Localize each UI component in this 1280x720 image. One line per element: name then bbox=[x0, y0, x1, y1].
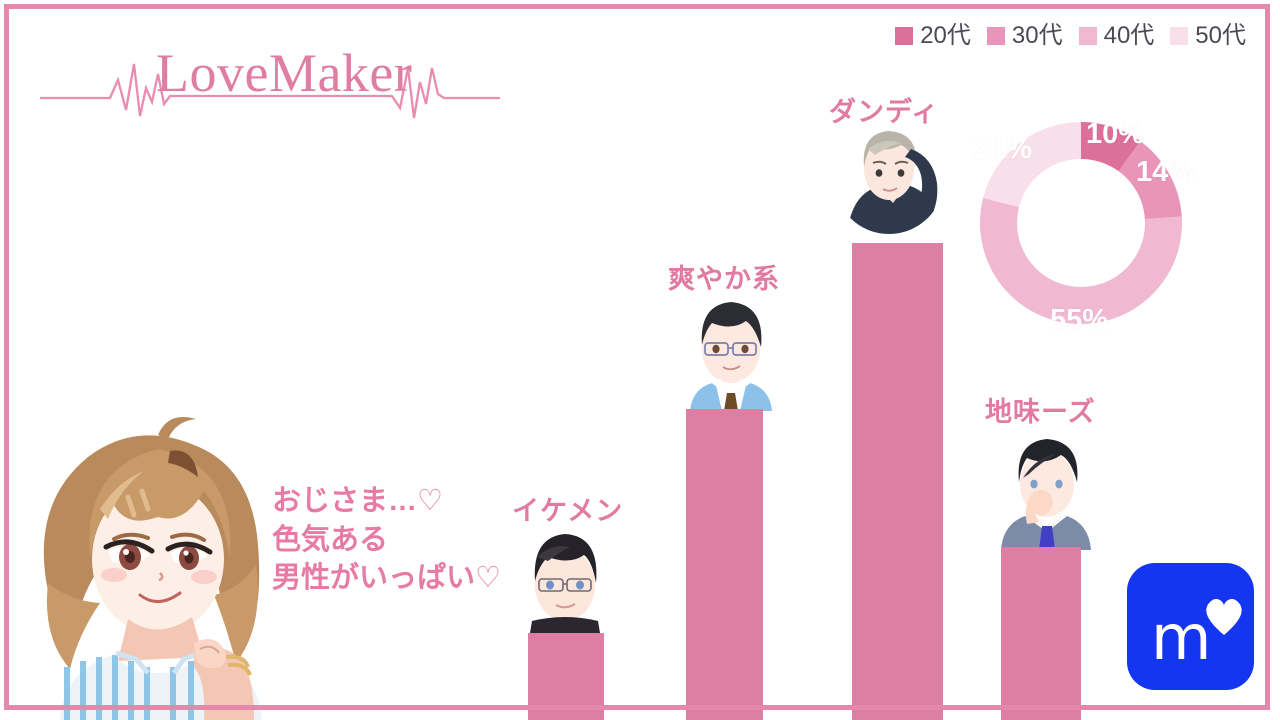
bar-dandy bbox=[852, 243, 943, 720]
legend-item: 20代 bbox=[895, 24, 971, 48]
heart-icon bbox=[1201, 595, 1247, 637]
bar-ikemen bbox=[528, 633, 604, 720]
heroine-illustration bbox=[8, 405, 308, 720]
legend-swatch-30 bbox=[987, 27, 1005, 45]
avatar-jimis bbox=[993, 432, 1095, 550]
legend-swatch-40 bbox=[1079, 27, 1097, 45]
avatar-ikemen bbox=[518, 521, 612, 633]
donut-value-40: 55% bbox=[1050, 304, 1108, 337]
avatar-sawayaka bbox=[682, 293, 780, 411]
legend-item: 40代 bbox=[1079, 24, 1155, 48]
bar-sawayaka bbox=[686, 409, 763, 720]
legend-item: 30代 bbox=[987, 24, 1063, 48]
age-legend: 20代 30代 40代 50代 bbox=[895, 24, 1246, 48]
legend-label-30: 30代 bbox=[1012, 24, 1063, 48]
legend-swatch-50 bbox=[1170, 27, 1188, 45]
legend-label-20: 20代 bbox=[920, 24, 971, 48]
legend-swatch-20 bbox=[895, 27, 913, 45]
app-icon[interactable]: m bbox=[1127, 563, 1254, 690]
infographic-canvas: LoveMaker 20代 30代 40代 50代 bbox=[0, 0, 1280, 720]
avatar-dandy bbox=[833, 123, 945, 235]
age-donut-chart: 10% 14% 55% 21% bbox=[936, 78, 1226, 368]
legend-label-40: 40代 bbox=[1104, 24, 1155, 48]
legend-item: 50代 bbox=[1170, 24, 1246, 48]
brand-logo-text: LoveMaker bbox=[156, 46, 412, 100]
bar-label-jimis: 地味ーズ bbox=[985, 390, 1096, 429]
bar-label-sawayaka: 爽やか系 bbox=[668, 257, 780, 296]
legend-label-50: 50代 bbox=[1195, 24, 1246, 48]
donut-value-20: 10% bbox=[1086, 118, 1144, 151]
bar-jimis bbox=[1001, 547, 1081, 720]
donut-value-50: 21% bbox=[974, 133, 1032, 166]
brand-logo: LoveMaker bbox=[40, 38, 500, 130]
donut-value-30: 14% bbox=[1136, 156, 1194, 189]
